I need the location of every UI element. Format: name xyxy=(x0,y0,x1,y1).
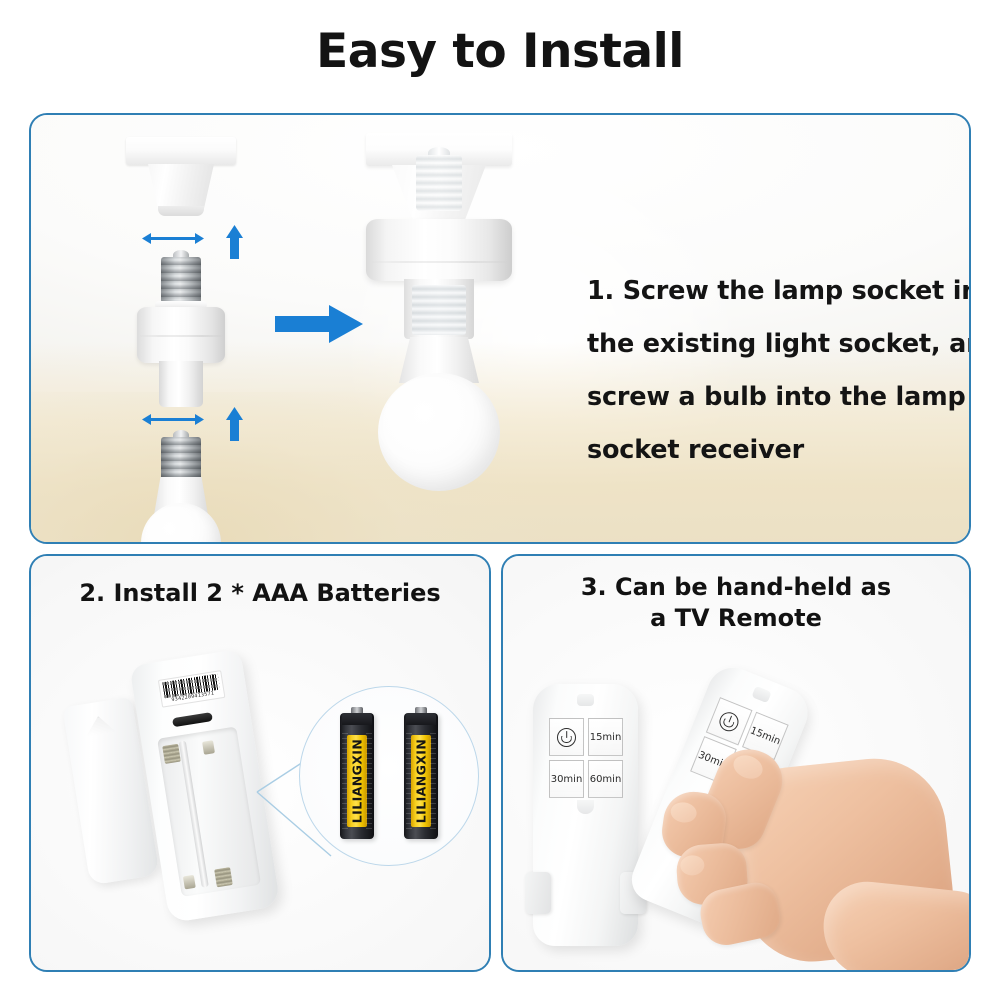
light-bulb xyxy=(141,437,221,544)
assembled-upper-screw-thread xyxy=(416,155,462,211)
assembled-lamp-socket-diagram xyxy=(366,133,512,493)
insert-arrow-top xyxy=(226,225,243,259)
instruction-line-2: the existing light socket, and xyxy=(587,318,971,371)
instruction-line-1: 1. Screw the lamp socket into xyxy=(587,265,971,318)
aaa-battery-2: LILIANGXIN xyxy=(404,713,438,839)
fixture-plate xyxy=(126,137,236,165)
assembled-receiver-seam xyxy=(370,261,508,263)
power-button[interactable] xyxy=(549,718,584,756)
aaa-battery-1: LILIANGXIN xyxy=(340,713,374,839)
panel-step-2: 2. Install 2 * AAA Batteries 93422094135… xyxy=(29,554,491,972)
bulb-screw-base xyxy=(161,437,201,481)
infographic-page: Easy to Install xyxy=(0,0,1000,1000)
fixture-cone xyxy=(148,164,214,211)
battery-side-shading-2 xyxy=(366,733,372,829)
assembled-bulb-globe xyxy=(378,373,500,491)
bulb-globe xyxy=(141,503,221,544)
fixture-lip xyxy=(158,206,204,216)
instruction-line-3: screw a bulb into the lamp xyxy=(587,371,971,424)
power-icon xyxy=(717,709,742,734)
assembled-lower-screw-thread xyxy=(412,285,466,335)
remote-keypad: 15min 30min 60min xyxy=(549,718,623,798)
power-icon xyxy=(557,728,576,747)
step-3-heading-line-1: 3. Can be hand-held as xyxy=(503,572,969,603)
index-fingernail xyxy=(730,751,766,783)
battery-label: LILIANGXIN xyxy=(347,735,367,827)
rotate-arrow-top xyxy=(142,233,204,244)
panel-step-1: 1. Screw the lamp socket into the existi… xyxy=(29,113,971,544)
assembled-receiver-hub xyxy=(366,219,512,281)
receiver-socket-skirt xyxy=(159,361,203,407)
lamp-socket-receiver xyxy=(137,257,225,412)
battery-top-rim xyxy=(406,713,436,725)
battery-label: LILIANGXIN xyxy=(411,735,431,827)
remote-left-clip xyxy=(525,872,551,914)
remote-standing[interactable]: 15min 30min 60min xyxy=(533,684,638,946)
rotate-arrow-bottom xyxy=(142,414,204,425)
middle-fingernail xyxy=(669,801,698,824)
human-hand xyxy=(653,736,971,972)
hand-heel xyxy=(818,877,971,972)
battery-brand-text: LILIANGXIN xyxy=(414,739,429,823)
ring-fingernail xyxy=(680,855,705,877)
timer-30-button[interactable]: 30min xyxy=(549,760,584,798)
timer-15-button[interactable]: 15min xyxy=(588,718,623,756)
panel-step-3: 3. Can be hand-held as a TV Remote 15min… xyxy=(501,554,971,972)
battery-top-rim xyxy=(342,713,372,725)
receiver-seam xyxy=(139,335,223,337)
remote-top-notch xyxy=(577,694,594,706)
battery-magnifier-circle: LILIANGXIN LILIANGXIN xyxy=(299,686,479,866)
remote-bottom-notch xyxy=(577,800,594,814)
page-title: Easy to Install xyxy=(0,24,1000,79)
battery-side-shading-2 xyxy=(430,733,436,829)
remote-top-notch-2 xyxy=(751,686,771,703)
battery-brand-text: LILIANGXIN xyxy=(350,739,365,823)
step-1-instruction: 1. Screw the lamp socket into the existi… xyxy=(587,265,971,477)
transition-arrow-icon xyxy=(275,305,363,343)
step-3-heading-line-2: a TV Remote xyxy=(503,603,969,634)
step-3-heading: 3. Can be hand-held as a TV Remote xyxy=(503,572,969,634)
receiver-screw-base xyxy=(161,257,201,303)
insert-arrow-bottom xyxy=(226,407,243,441)
ceiling-light-fixture xyxy=(126,137,236,217)
timer-60-button[interactable]: 60min xyxy=(588,760,623,798)
instruction-line-4: socket receiver xyxy=(587,424,971,477)
